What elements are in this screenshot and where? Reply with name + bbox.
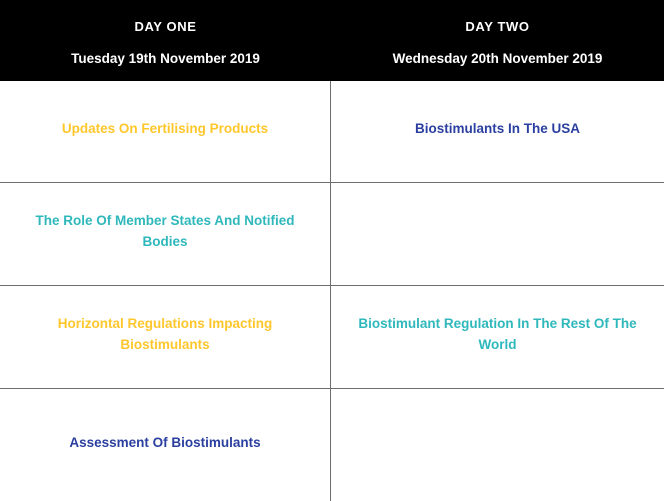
agenda-header-band: DAY ONE Tuesday 19th November 2019 DAY T… [0, 0, 664, 81]
day-two-date: Wednesday 20th November 2019 [393, 51, 603, 66]
agenda-cell-day-two-empty [331, 183, 664, 285]
session-title: Updates On Fertilising Products [14, 118, 316, 139]
day-one-date: Tuesday 19th November 2019 [71, 51, 260, 66]
agenda-row: Horizontal Regulations Impacting Biostim… [0, 286, 664, 389]
agenda-grid: DAY ONE Tuesday 19th November 2019 DAY T… [0, 0, 664, 501]
agenda-row: The Role Of Member States And Notified B… [0, 183, 664, 286]
session-title: Biostimulant Regulation In The Rest Of T… [345, 313, 650, 355]
agenda-row: Assessment Of Biostimulants [0, 389, 664, 501]
header-column-day-two: DAY TWO Wednesday 20th November 2019 [331, 0, 664, 81]
agenda-cell-day-one[interactable]: Horizontal Regulations Impacting Biostim… [0, 286, 331, 388]
agenda-cell-day-two-empty [331, 389, 664, 501]
session-title: Biostimulants In The USA [345, 118, 650, 139]
header-column-day-one: DAY ONE Tuesday 19th November 2019 [0, 0, 331, 81]
agenda-cell-day-one[interactable]: The Role Of Member States And Notified B… [0, 183, 331, 285]
agenda-row: Updates On Fertilising Products Biostimu… [0, 81, 664, 183]
session-title: Horizontal Regulations Impacting Biostim… [14, 313, 316, 355]
agenda-grid-body: Updates On Fertilising Products Biostimu… [0, 81, 664, 501]
day-two-label: DAY TWO [465, 20, 529, 34]
agenda-cell-day-two[interactable]: Biostimulants In The USA [331, 81, 664, 182]
agenda-cell-day-one[interactable]: Updates On Fertilising Products [0, 81, 331, 182]
agenda-cell-day-one[interactable]: Assessment Of Biostimulants [0, 389, 331, 501]
session-title: Assessment Of Biostimulants [14, 432, 316, 453]
agenda-cell-day-two[interactable]: Biostimulant Regulation In The Rest Of T… [331, 286, 664, 388]
session-title: The Role Of Member States And Notified B… [14, 210, 316, 252]
day-one-label: DAY ONE [134, 20, 196, 34]
